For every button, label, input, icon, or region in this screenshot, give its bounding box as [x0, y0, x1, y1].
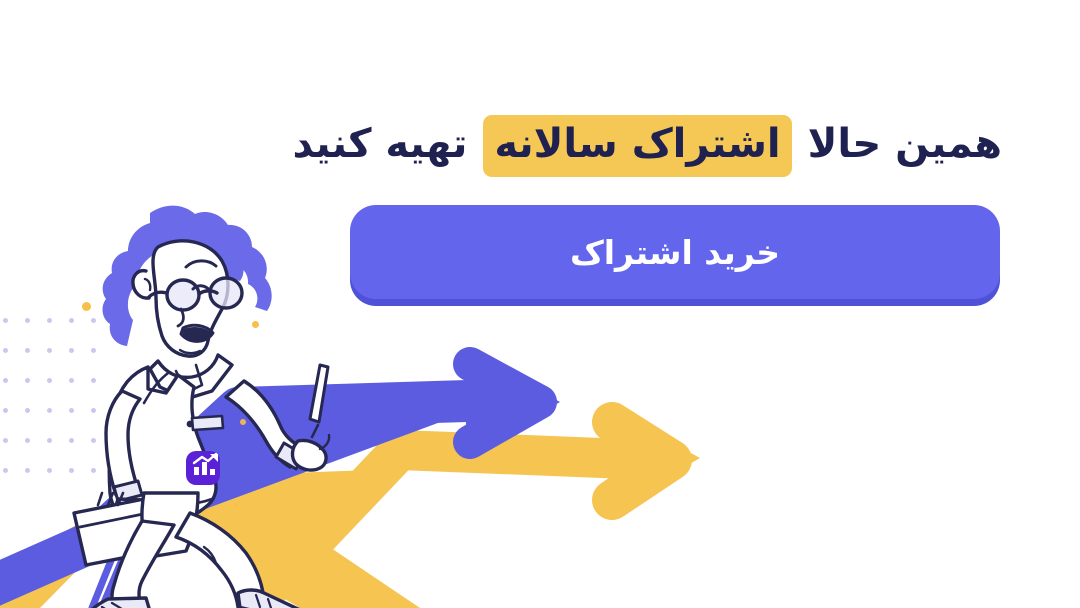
headline-lead: همین حالا: [808, 121, 1002, 167]
pocket-stripe: [192, 416, 223, 430]
character-illustration: [40, 175, 370, 608]
headline: همین حالا اشتراک سالانه تهیه کنید: [292, 115, 1002, 177]
pen: [310, 365, 328, 422]
promo-banner: همین حالا اشتراک سالانه تهیه کنید خرید ا…: [0, 0, 1080, 608]
cta-container: خرید اشتراک: [350, 205, 1000, 307]
buy-subscription-button[interactable]: خرید اشتراک: [350, 205, 1000, 299]
headline-trail: تهیه کنید: [292, 121, 467, 167]
ear: [133, 271, 149, 298]
pocket-dot: [187, 421, 194, 428]
headline-highlight: اشتراک سالانه: [483, 115, 791, 177]
finger-1: [312, 425, 318, 437]
app-badge: [186, 451, 220, 485]
right-hand: [292, 440, 326, 470]
